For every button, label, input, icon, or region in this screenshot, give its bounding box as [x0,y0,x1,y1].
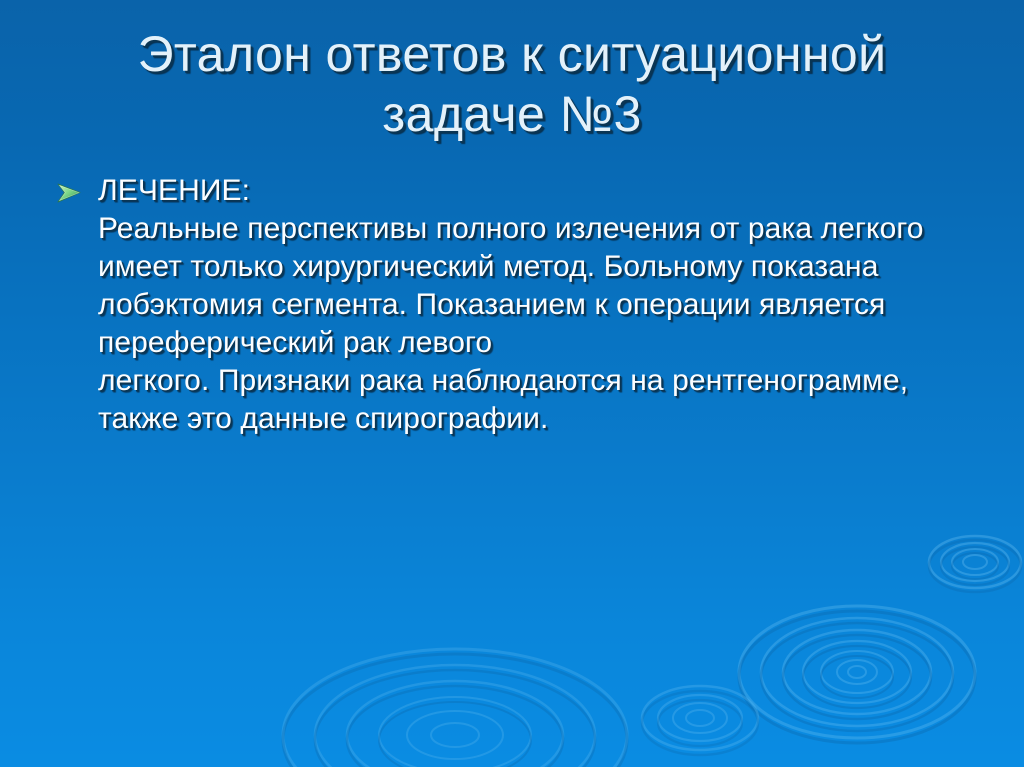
bullet-list-item: ЛЕЧЕНИЕ: Реальные перспективы полного из… [52,172,982,438]
slide-content: ЛЕЧЕНИЕ: Реальные перспективы полного из… [52,172,982,438]
slide-title-text: Эталон ответов к ситуационной задаче №3 [60,24,964,144]
slide-title: Эталон ответов к ситуационной задаче №3 [60,24,964,144]
presentation-slide: Эталон ответов к ситуационной задаче №3 [0,0,1024,767]
bullet-body-text: ЛЕЧЕНИЕ: Реальные перспективы полного из… [98,172,982,438]
arrowhead-bullet-icon [56,182,84,204]
